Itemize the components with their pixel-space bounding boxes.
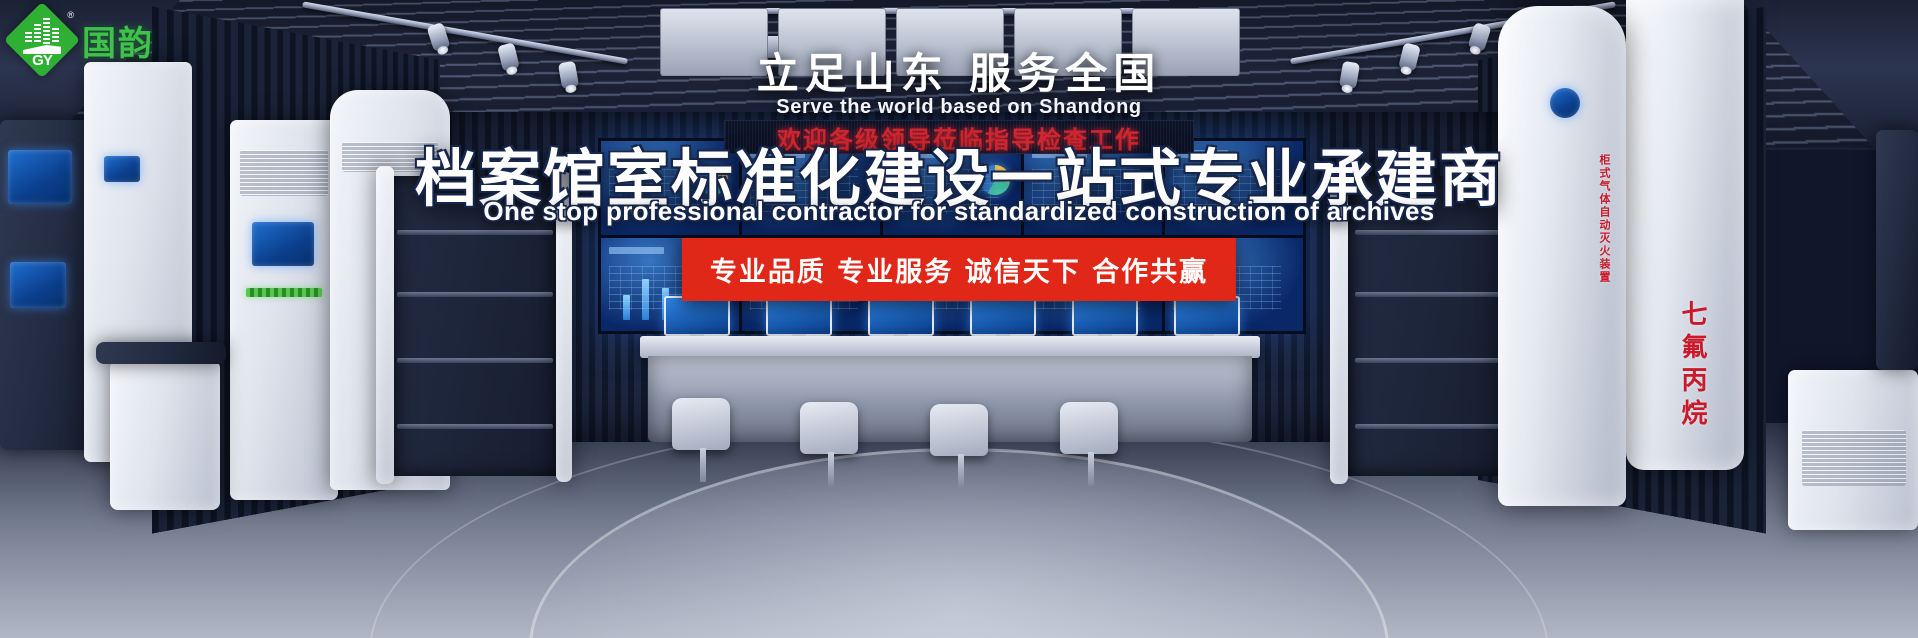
hero-banner: 柜式气体自动灭火装置 七氟丙烷 GY ® 国韵 立足山东 服务全国 (0, 0, 1918, 638)
tagline-english: Serve the world based on Shandong (0, 96, 1918, 119)
hero-text-overlay: GY ® 国韵 立足山东 服务全国 Serve the world based … (0, 0, 1918, 638)
cta-slogan-button[interactable]: 专业品质 专业服务 诚信天下 合作共赢 (682, 238, 1236, 301)
hero-headline-english: One stop professional contractor for sta… (0, 196, 1918, 227)
tagline-chinese: 立足山东 服务全国 (0, 40, 1918, 101)
trademark-icon: ® (67, 10, 74, 20)
cta-label: 专业品质 专业服务 诚信天下 合作共赢 (710, 250, 1208, 289)
